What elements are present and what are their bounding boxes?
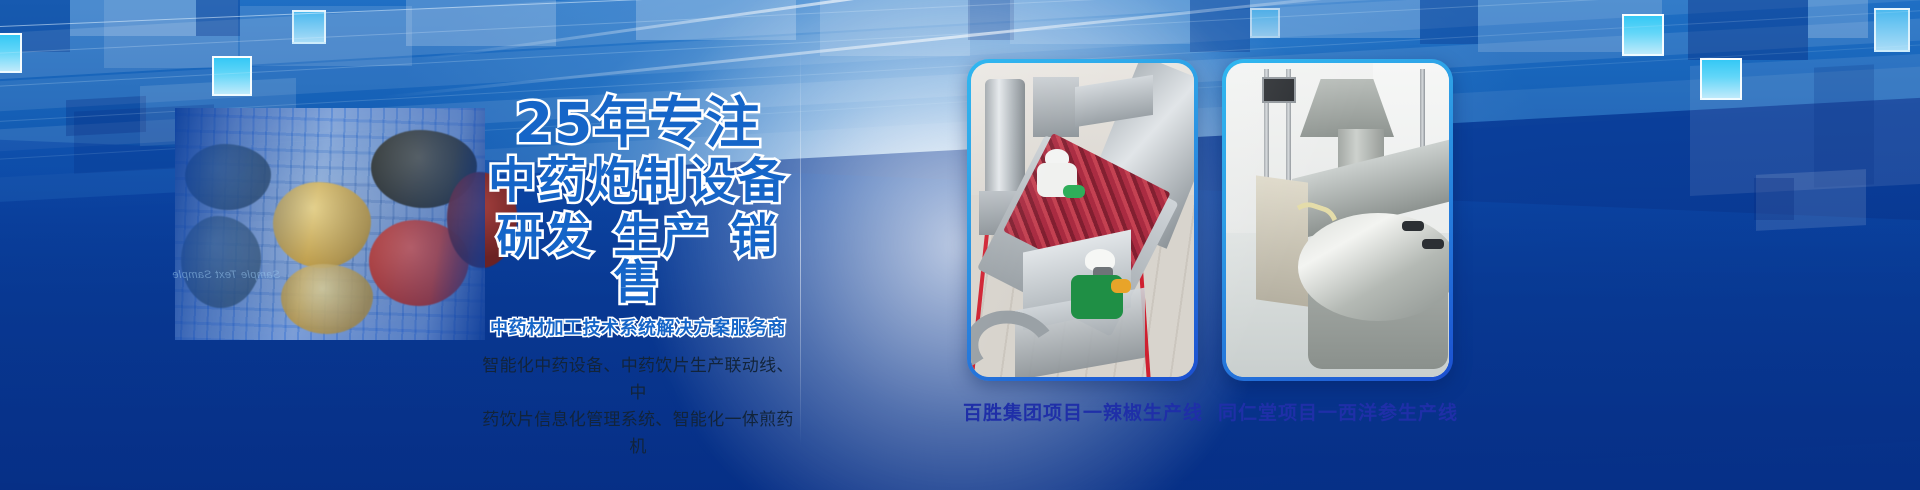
background-block	[1808, 0, 1868, 38]
background-square	[212, 56, 252, 96]
photo-content	[971, 63, 1194, 377]
background-square	[1700, 58, 1742, 100]
photo-caption-ginseng: 同仁堂项目一西洋参生产线	[1188, 398, 1488, 425]
photo-glass-sheen	[1226, 63, 1449, 377]
headline-block: 25年专注 中药炮制设备 研发 生产 销售 中药材加工技术系统解决方案服务商 智…	[478, 96, 798, 461]
background-square	[1622, 14, 1664, 56]
herb-blue-overlay	[175, 108, 485, 340]
photo-card-chili[interactable]	[967, 59, 1198, 381]
description-line-2: 药饮片信息化管理系统、智能化一体煎药机	[478, 407, 798, 461]
chinese-herbal-medicine-collage	[175, 108, 485, 340]
hero-banner: Sample Text Sample 25年专注 中药炮制设备 研发 生产 销售…	[0, 0, 1920, 490]
headline-line-1: 25年专注	[478, 96, 798, 151]
background-block	[406, 0, 556, 46]
description-line-1: 智能化中药设备、中药饮片生产联动线、中	[478, 353, 798, 407]
background-block	[1688, 0, 1808, 60]
background-block	[1754, 178, 1794, 220]
photo-card-ginseng[interactable]	[1222, 59, 1453, 381]
description-block: 智能化中药设备、中药饮片生产联动线、中 药饮片信息化管理系统、智能化一体煎药机	[478, 353, 798, 461]
photo-content	[1226, 63, 1449, 377]
headline-tagline: 中药材加工技术系统解决方案服务商	[478, 314, 798, 340]
photo-ginseng-production-line	[1226, 63, 1449, 377]
content-divider	[800, 46, 801, 446]
photo-glass-sheen	[971, 63, 1194, 377]
headline-line-3: 研发 生产 销售	[478, 213, 798, 305]
watermark-text: Sample Text Sample	[172, 268, 280, 282]
headline-line-2: 中药炮制设备	[478, 157, 798, 205]
photo-chili-production-line	[971, 63, 1194, 377]
